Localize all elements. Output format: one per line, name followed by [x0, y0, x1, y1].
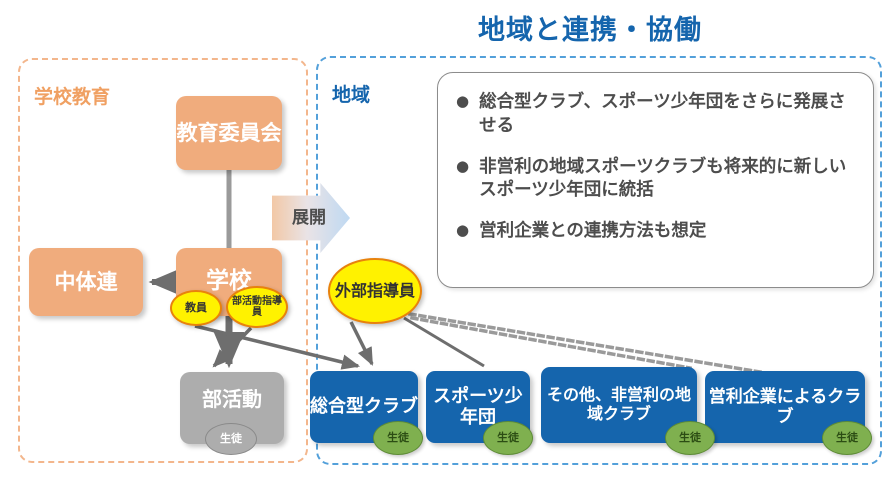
- oval-kyoin[interactable]: 教員: [170, 290, 222, 326]
- oval-gaibu-shidoin[interactable]: 外部指導員: [328, 258, 422, 324]
- oval-seito-sports-shonendan[interactable]: 生徒: [483, 421, 533, 455]
- oval-seito-sonota[interactable]: 生徒: [665, 421, 715, 455]
- bullet-card: ● 総合型クラブ、スポーツ少年団をさらに発展させる ● 非営利の地域スポーツクラ…: [437, 72, 874, 288]
- oval-seito-bukatsudo[interactable]: 生徒: [205, 423, 257, 455]
- box-kyoiku-iinkai[interactable]: 教育委員会: [176, 96, 282, 170]
- bullet-text: 非営利の地域スポーツクラブも将来的に新しいスポーツ少年団に統括: [479, 156, 857, 204]
- bullet-item: ● 非営利の地域スポーツクラブも将来的に新しいスポーツ少年団に統括: [456, 156, 857, 204]
- panel-region-label: 地域: [332, 80, 370, 107]
- bullet-text: 総合型クラブ、スポーツ少年団をさらに発展させる: [479, 91, 857, 139]
- bullet-dot-icon: ●: [456, 220, 469, 240]
- diagram-canvas: 地域と連携・協働 学校教育 地域 展開 教育委員会 中体連 学校: [0, 0, 894, 486]
- oval-seito-eiri-kigyo[interactable]: 生徒: [822, 421, 872, 455]
- bullet-dot-icon: ●: [456, 91, 469, 111]
- bullet-item: ● 営利企業との連携方法も想定: [456, 220, 857, 244]
- box-chutairen[interactable]: 中体連: [29, 248, 143, 316]
- bullet-item: ● 総合型クラブ、スポーツ少年団をさらに発展させる: [456, 91, 857, 139]
- tenkai-arrow-label: 展開: [274, 203, 344, 228]
- oval-seito-sogo-club[interactable]: 生徒: [373, 421, 423, 455]
- page-title: 地域と連携・協働: [478, 8, 702, 47]
- bullet-text: 営利企業との連携方法も想定: [479, 220, 706, 244]
- panel-school-education-label: 学校教育: [34, 82, 110, 109]
- oval-bukatsu-shidoin[interactable]: 部活動指導員: [226, 286, 288, 328]
- bullet-dot-icon: ●: [456, 156, 469, 176]
